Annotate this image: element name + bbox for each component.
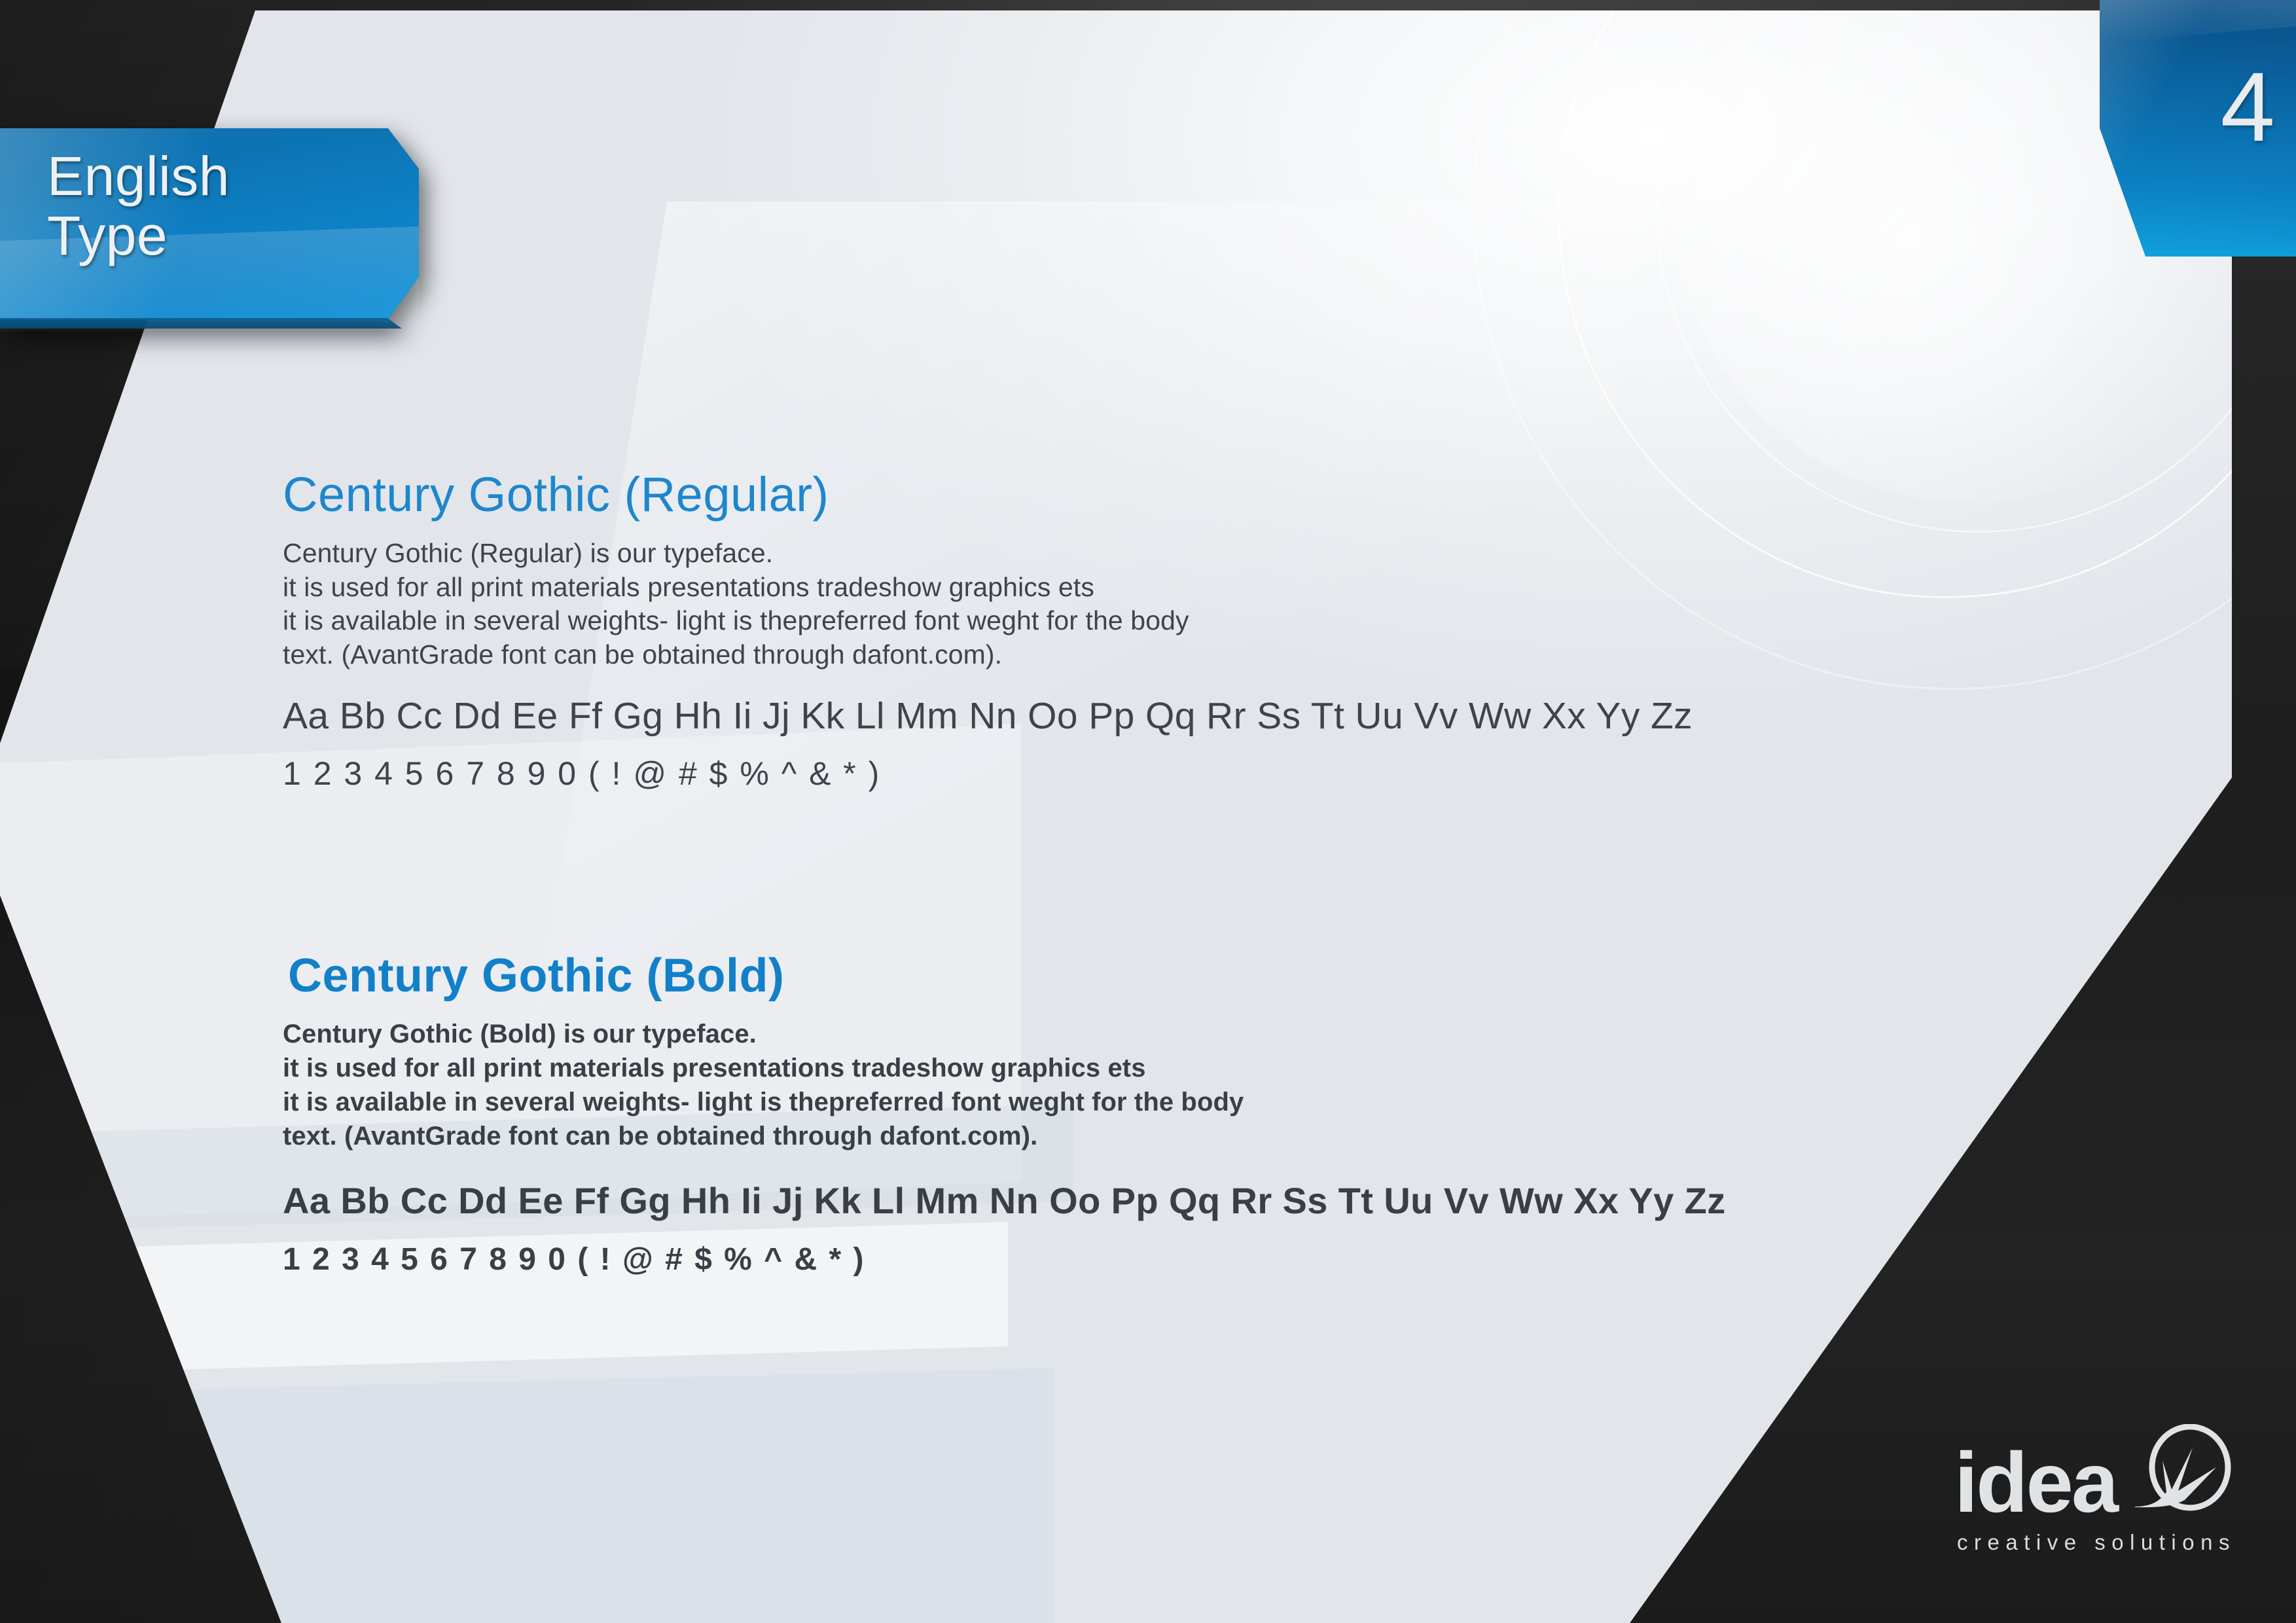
- specimen-heading-regular: Century Gothic (Regular): [283, 469, 1984, 521]
- slide-title: English Type: [47, 147, 230, 265]
- specimen-block-regular: Century Gothic (Regular) Century Gothic …: [283, 469, 1984, 793]
- logo-splash-circle-icon: [2130, 1424, 2234, 1529]
- slide-canvas: English Type 4 Century Gothic (Regular) …: [0, 0, 2296, 1623]
- logo-mark-row: idea: [1950, 1427, 2238, 1525]
- title-banner: English Type: [0, 128, 419, 319]
- specimen-block-bold: Century Gothic (Bold) Century Gothic (Bo…: [283, 951, 1984, 1278]
- specimen-glyphs-bold: 1 2 3 4 5 6 7 8 9 0 ( ! @ # $ % ^ & * ): [283, 1241, 1984, 1277]
- specimen-description-bold: Century Gothic (Bold) is our typeface. i…: [283, 1017, 1984, 1153]
- specimen-alphabet-regular: Aa Bb Cc Dd Ee Ff Gg Hh Ii Jj Kk Ll Mm N…: [283, 694, 1984, 738]
- typography-specimen: Century Gothic (Regular) Century Gothic …: [283, 469, 1984, 1277]
- specimen-description-regular: Century Gothic (Regular) is our typeface…: [283, 537, 1984, 672]
- page-number: 4: [2100, 58, 2274, 156]
- title-banner-bevel: [0, 318, 402, 329]
- brand-logo: idea creative solutions: [1950, 1427, 2238, 1555]
- logo-wordmark: idea: [1954, 1440, 2117, 1525]
- logo-tagline: creative solutions: [1950, 1530, 2238, 1555]
- specimen-alphabet-bold: Aa Bb Cc Dd Ee Ff Gg Hh Ii Jj Kk Ll Mm N…: [283, 1179, 1984, 1222]
- page-badge-sheen: [2100, 0, 2296, 43]
- specimen-heading-bold: Century Gothic (Bold): [288, 951, 1984, 1002]
- specimen-glyphs-regular: 1 2 3 4 5 6 7 8 9 0 ( ! @ # $ % ^ & * ): [283, 755, 1984, 793]
